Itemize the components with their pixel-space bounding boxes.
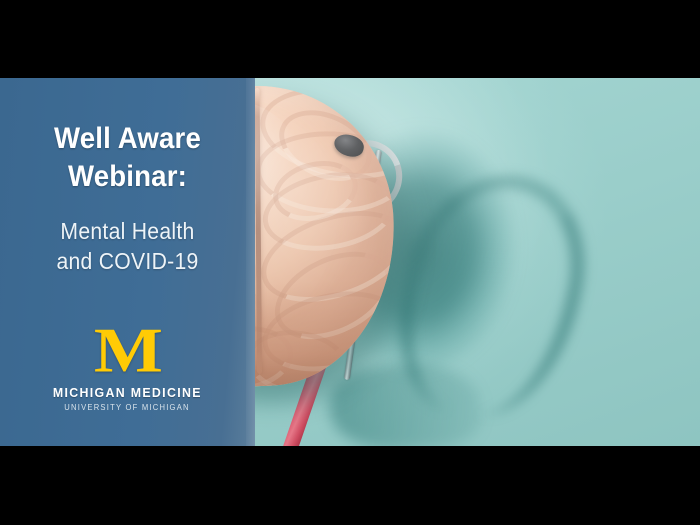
- page-title-line-1: Well Aware: [10, 120, 245, 158]
- page-title-line-2: Webinar:: [10, 158, 245, 196]
- page-subtitle-line-1: Mental Health: [10, 216, 245, 246]
- title-block: Well Aware Webinar:: [0, 120, 255, 196]
- michigan-medicine-logo: M MICHIGAN MEDICINE UNIVERSITY OF MICHIG…: [0, 325, 255, 412]
- title-panel: Well Aware Webinar: Mental Health and CO…: [0, 78, 255, 446]
- logo-tagline: UNIVERSITY OF MICHIGAN: [65, 403, 190, 412]
- logo-name: MICHIGAN MEDICINE: [53, 385, 202, 400]
- slide-content: Well Aware Webinar: Mental Health and CO…: [0, 78, 700, 446]
- block-m-icon: M: [94, 324, 162, 377]
- panel-edge-highlight: [246, 78, 255, 446]
- page-subtitle-line-2: and COVID-19: [10, 246, 245, 276]
- video-frame: Well Aware Webinar: Mental Health and CO…: [0, 0, 700, 525]
- subtitle-block: Mental Health and COVID-19: [0, 216, 255, 276]
- letterbox-top: [0, 0, 700, 78]
- letterbox-bottom: [0, 446, 700, 525]
